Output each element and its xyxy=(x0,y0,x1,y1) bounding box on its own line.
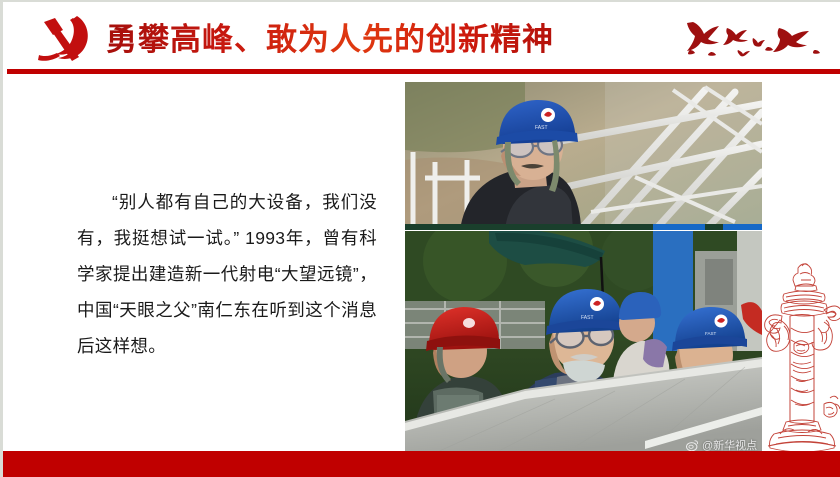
hammer-and-sickle-emblem xyxy=(27,12,95,64)
svg-text:FAST: FAST xyxy=(705,331,717,336)
svg-text:FAST: FAST xyxy=(581,315,594,321)
slide-header: 勇攀高峰、敢为人先的创新精神 xyxy=(3,2,840,72)
huabiao-column-decoration xyxy=(760,254,840,454)
footer-red-bar xyxy=(3,451,840,477)
page-title: 勇攀高峰、敢为人先的创新精神 xyxy=(106,18,554,62)
svg-text:FAST: FAST xyxy=(535,125,548,131)
quote-paragraph: “别人都有自己的大设备，我们没有，我挺想试一试。” 1993年，曾有科学家提出建… xyxy=(77,184,377,364)
header-divider-rule xyxy=(7,69,840,74)
photo-nan-rendong-inspection: FAST FAST xyxy=(405,231,762,453)
photo-engineer-at-telescope: FAST xyxy=(405,82,762,230)
slide-canvas: 勇攀高峰、敢为人先的创新精神 “别人都有自己的大设备，我们没有，我挺想试一试 xyxy=(0,0,840,477)
flying-doves-decoration xyxy=(675,14,825,62)
photo-bottom-illustration: FAST FAST xyxy=(405,231,762,453)
photo-top-illustration: FAST xyxy=(405,82,762,230)
